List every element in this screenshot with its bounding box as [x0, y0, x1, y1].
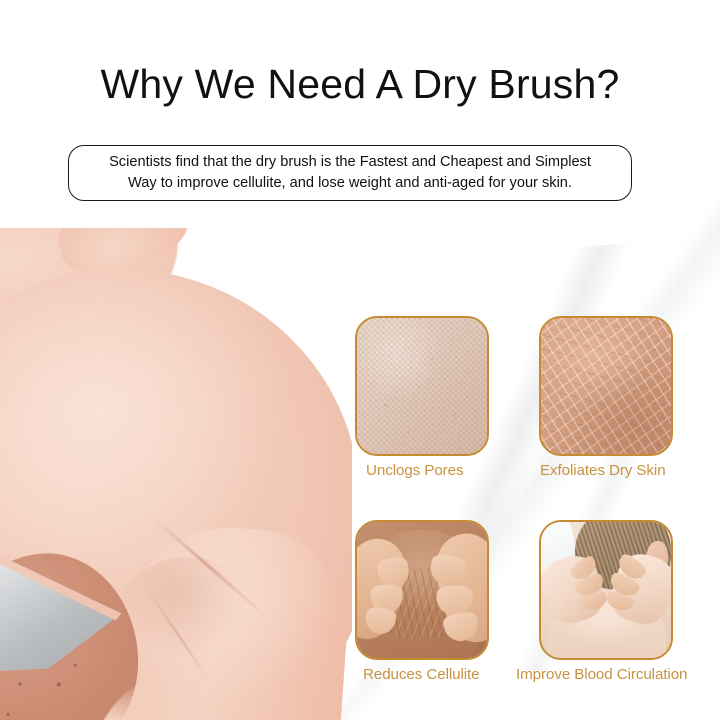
subtitle-line-1: Scientists find that the dry brush is th… [79, 152, 621, 173]
pore-skin-texture-image [357, 318, 487, 454]
benefit-tile-unclogs-pores[interactable] [355, 316, 489, 456]
pore-dot [7, 713, 10, 716]
page-title: Why We Need A Dry Brush? [0, 62, 720, 107]
pore-dot [19, 682, 22, 685]
infographic-root: Why We Need A Dry Brush? Scientists find… [0, 0, 720, 720]
benefit-label-exfoliates-dry-skin: Exfoliates Dry Skin [540, 462, 666, 479]
subtitle-line-2: Way to improve cellulite, and lose weigh… [79, 173, 621, 194]
neck-massage-image [541, 522, 671, 658]
benefit-tile-exfoliates-dry-skin[interactable] [539, 316, 673, 456]
benefit-label-unclogs-pores: Unclogs Pores [366, 462, 463, 479]
pore-dot [74, 664, 77, 667]
pore-dot [57, 682, 61, 686]
benefit-label-improve-blood-circulation: Improve Blood Circulation [516, 666, 687, 683]
hero-body-photo [0, 228, 352, 720]
benefit-tile-improve-blood-circulation[interactable] [539, 520, 673, 660]
dry-skin-texture-image [541, 318, 671, 454]
benefit-tile-reduces-cellulite[interactable] [355, 520, 489, 660]
benefit-label-reduces-cellulite: Reduces Cellulite [363, 666, 480, 683]
cellulite-thigh-image [357, 522, 487, 658]
subtitle-callout-box: Scientists find that the dry brush is th… [68, 145, 632, 201]
